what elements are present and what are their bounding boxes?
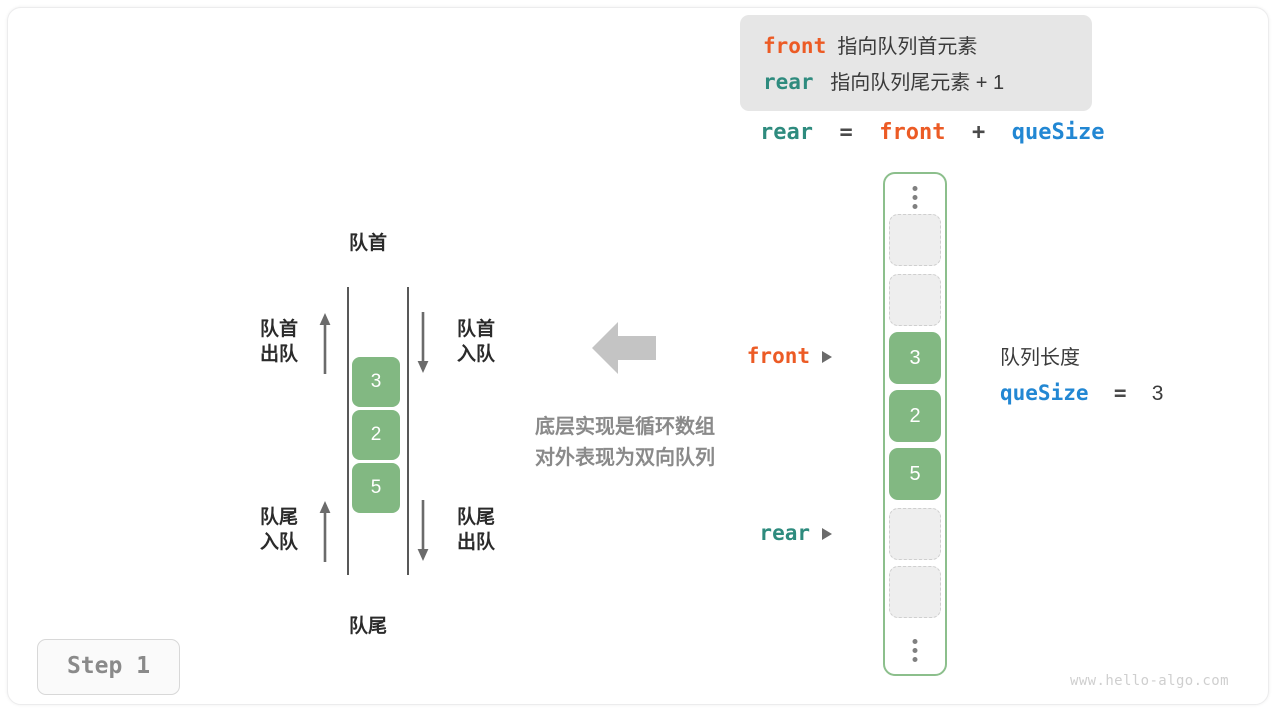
transform-arrow-left-icon xyxy=(592,320,656,381)
deque-label-rear-enqueue-text: 队尾 入队 xyxy=(260,507,298,553)
arrow-down-front-enqueue-icon xyxy=(416,312,430,374)
deque-label-front-dequeue: 队首 出队 xyxy=(248,317,310,367)
formula-lhs: rear xyxy=(760,120,813,145)
rear-formula: rear = front + queSize xyxy=(760,119,1104,145)
implementation-caption: 底层实现是循环数组 对外表现为双向队列 xyxy=(500,412,750,474)
legend-description-front: 指向队列首元素 xyxy=(837,36,977,58)
array-cell-4[interactable]: 5 xyxy=(889,448,941,500)
arrow-up-rear-enqueue-icon xyxy=(318,500,332,562)
deque-label-rear-dequeue-text: 队尾 出队 xyxy=(457,507,495,553)
implementation-caption-line1: 底层实现是循环数组 xyxy=(500,412,750,443)
queue-length-title: 队列长度 xyxy=(1000,341,1163,370)
deque-label-front-enqueue-text: 队首 入队 xyxy=(457,319,495,365)
deque-cell-1[interactable]: 2 xyxy=(352,410,400,460)
deque-bottom-caption: 队尾 xyxy=(349,611,387,638)
legend-description-rear: 指向队列尾元素 + 1 xyxy=(830,72,1004,94)
deque-label-front-enqueue: 队首 入队 xyxy=(445,317,507,367)
formula-plus: + xyxy=(972,120,985,145)
step-badge: Step 1 xyxy=(37,639,180,695)
quesize-var: queSize xyxy=(1000,381,1089,405)
quesize-expression: queSize = 3 xyxy=(1000,381,1163,406)
deque-label-front-dequeue-text: 队首 出队 xyxy=(260,319,298,365)
pointer-legend-box: front 指向队列首元素 rear 指向队列尾元素 + 1 xyxy=(740,15,1092,111)
watermark: www.hello-algo.com xyxy=(1070,673,1229,689)
array-cell-3[interactable]: 2 xyxy=(889,390,941,442)
array-cell-5[interactable] xyxy=(889,508,941,560)
diagram-canvas: front 指向队列首元素 rear 指向队列尾元素 + 1 rear = fr… xyxy=(0,0,1280,720)
deque-left-rail xyxy=(347,287,349,575)
deque-right-rail xyxy=(407,287,409,575)
deque-label-rear-dequeue: 队尾 出队 xyxy=(445,505,507,555)
legend-line-rear: rear 指向队列尾元素 + 1 xyxy=(763,64,1092,100)
deque-cell-2[interactable]: 5 xyxy=(352,463,400,513)
formula-operand-quesize: queSize xyxy=(1012,120,1105,145)
formula-operand-front: front xyxy=(879,120,945,145)
pointer-arrow-rear-icon xyxy=(822,528,832,540)
quesize-value: 3 xyxy=(1152,382,1164,405)
deque-label-rear-enqueue: 队尾 入队 xyxy=(248,505,310,555)
formula-equals: = xyxy=(839,120,852,145)
array-cell-0[interactable] xyxy=(889,214,941,266)
arrow-down-rear-dequeue-icon xyxy=(416,500,430,562)
deque-cell-0[interactable]: 3 xyxy=(352,357,400,407)
arrow-up-front-dequeue-icon xyxy=(318,312,332,374)
array-cell-6[interactable] xyxy=(889,566,941,618)
implementation-caption-line2: 对外表现为双向队列 xyxy=(500,443,750,474)
array-cell-1[interactable] xyxy=(889,274,941,326)
legend-keyword-front: front xyxy=(763,34,826,58)
pointer-label-rear: rear xyxy=(705,521,810,545)
array-bottom-ellipsis-icon xyxy=(913,639,918,662)
array-top-ellipsis-icon xyxy=(913,186,918,209)
legend-line-front: front 指向队列首元素 xyxy=(763,28,1092,64)
legend-keyword-rear: rear xyxy=(763,70,814,94)
array-cell-2[interactable]: 3 xyxy=(889,332,941,384)
pointer-label-front: front xyxy=(705,344,810,368)
quesize-equals: = xyxy=(1114,381,1127,405)
queue-length-note: 队列长度 queSize = 3 xyxy=(1000,341,1163,406)
deque-top-caption: 队首 xyxy=(349,228,387,255)
pointer-arrow-front-icon xyxy=(822,351,832,363)
